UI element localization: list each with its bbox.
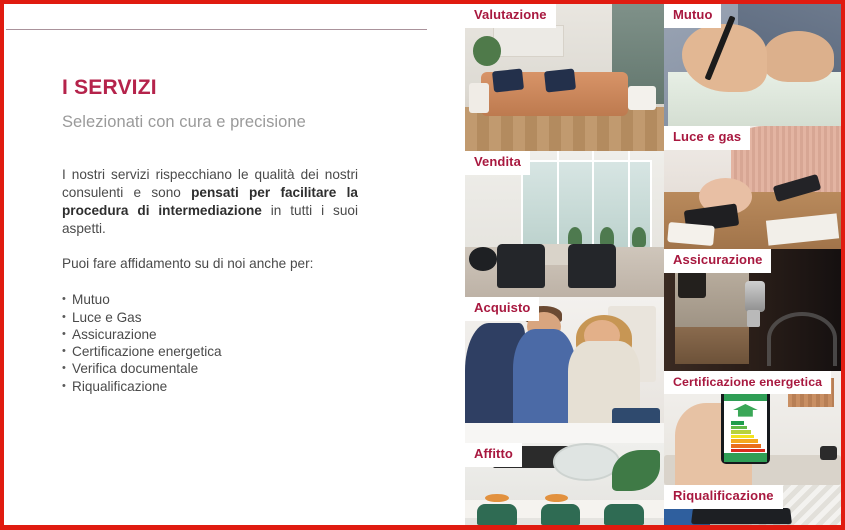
text-content-block: I SERVIZI Selezionati con cura e precisi… (62, 76, 362, 395)
list-item: Riqualificazione (62, 378, 362, 395)
slide-root: I SERVIZI Selezionati con cura e precisi… (0, 0, 845, 530)
photo-label-certificazione-energetica: Certificazione energetica (664, 371, 831, 394)
services-photo-grid: Valutazione (465, 4, 841, 525)
photo-tile-valutazione[interactable]: Valutazione (465, 4, 664, 151)
photo-label-affitto: Affitto (465, 443, 522, 467)
photo-tile-mutuo[interactable]: Mutuo (664, 4, 841, 126)
photo-tile-certificazione-energetica[interactable]: Certificazione energetica (664, 371, 841, 485)
photo-tile-luce-e-gas[interactable]: Luce e gas (664, 126, 841, 249)
list-item: Luce e Gas (62, 309, 362, 326)
list-lead-in-text: Puoi fare affidamento su di noi anche pe… (62, 255, 362, 273)
photo-label-riqualificazione: Riqualificazione (664, 485, 783, 509)
list-item: Assicurazione (62, 326, 362, 343)
photo-label-vendita: Vendita (465, 151, 530, 175)
photo-label-assicurazione: Assicurazione (664, 249, 771, 273)
photo-column-right: Mutuo Luce e gas (664, 4, 841, 525)
photo-label-mutuo: Mutuo (664, 4, 721, 28)
photo-tile-vendita[interactable]: Vendita (465, 151, 664, 297)
page-subtitle: Selezionati con cura e precisione (62, 113, 362, 133)
left-text-panel: I SERVIZI Selezionati con cura e precisi… (4, 4, 465, 525)
photo-tile-affitto[interactable]: Affitto (465, 443, 664, 525)
header-divider-rule (6, 29, 427, 30)
body-paragraph: I nostri servizi rispecchiano le qualità… (62, 166, 358, 238)
photo-label-acquisto: Acquisto (465, 297, 539, 321)
photo-label-luce-e-gas: Luce e gas (664, 126, 750, 150)
photo-tile-riqualificazione[interactable]: Riqualificazione (664, 485, 841, 525)
services-bullet-list: Mutuo Luce e Gas Assicurazione Certifica… (62, 291, 362, 395)
list-item: Certificazione energetica (62, 343, 362, 360)
list-item: Mutuo (62, 291, 362, 308)
photo-tile-acquisto[interactable]: Acquisto (465, 297, 664, 443)
page-title: I SERVIZI (62, 76, 362, 99)
photo-column-left: Valutazione (465, 4, 664, 525)
photo-label-valutazione: Valutazione (465, 4, 556, 28)
list-item: Verifica documentale (62, 360, 362, 377)
photo-tile-assicurazione[interactable]: Assicurazione (664, 249, 841, 371)
